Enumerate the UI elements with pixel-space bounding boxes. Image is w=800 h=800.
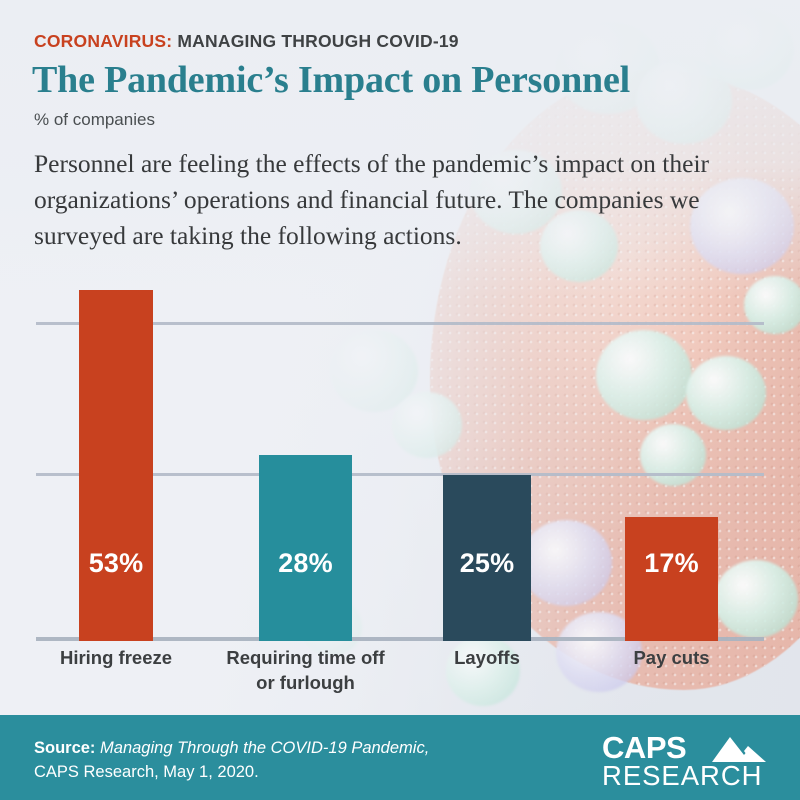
bar-label-requiring-time-off: Requiring time off or furlough [221, 645, 391, 695]
bar-series: 53% Hiring freeze 28% Requiring time off… [0, 290, 800, 700]
source-attribution: Source: Managing Through the COVID-19 Pa… [34, 736, 429, 784]
page-title: The Pandemic’s Impact on Personnel [32, 58, 630, 102]
bar-column-layoffs[interactable]: 25% Layoffs [443, 475, 531, 641]
bar-label-layoffs: Layoffs [392, 645, 582, 670]
logo-research-wordmark: RESEARCH [602, 760, 763, 792]
bar-value-layoffs: 25% [443, 548, 531, 579]
eyebrow-kicker: CORONAVIRUS: MANAGING THROUGH COVID-19 [34, 31, 459, 52]
source-label: Source: [34, 739, 95, 757]
mountain-peak-icon [686, 735, 768, 762]
infographic-canvas: CORONAVIRUS: MANAGING THROUGH COVID-19 T… [0, 0, 800, 800]
bar-hiring-freeze[interactable] [79, 290, 153, 641]
lede-paragraph: Personnel are feeling the effects of the… [34, 146, 760, 254]
bar-label-hiring-freeze: Hiring freeze [21, 645, 211, 670]
chart-subtitle: % of companies [34, 110, 155, 130]
bar-column-hiring-freeze[interactable]: 53% Hiring freeze [79, 290, 153, 641]
caps-research-logo[interactable]: CAPS RESEARCH [592, 733, 772, 787]
source-rest: CAPS Research, May 1, 2020. [34, 763, 259, 781]
eyebrow-rest-label: MANAGING THROUGH COVID-19 [172, 31, 458, 51]
source-title: Managing Through the COVID-19 Pandemic, [95, 739, 429, 757]
bar-column-requiring-time-off[interactable]: 28% Requiring time off or furlough [259, 455, 352, 641]
bar-value-hiring-freeze: 53% [79, 548, 153, 579]
bar-value-pay-cuts: 17% [625, 548, 718, 579]
bar-chart: 53% Hiring freeze 28% Requiring time off… [0, 290, 800, 700]
footer-bar: Source: Managing Through the COVID-19 Pa… [0, 715, 800, 800]
bar-label-pay-cuts: Pay cuts [577, 645, 767, 670]
bar-pay-cuts[interactable] [625, 517, 718, 641]
eyebrow-kicker-label: CORONAVIRUS: [34, 31, 172, 51]
bar-column-pay-cuts[interactable]: 17% Pay cuts [625, 517, 718, 641]
bar-value-requiring-time-off: 28% [259, 548, 352, 579]
content-layer: CORONAVIRUS: MANAGING THROUGH COVID-19 T… [0, 0, 800, 800]
